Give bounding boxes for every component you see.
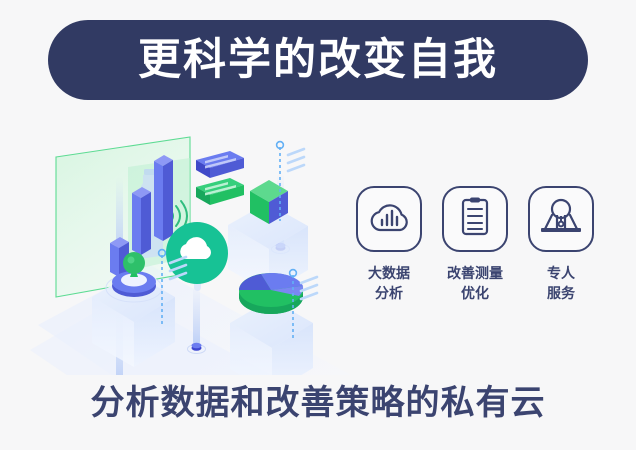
feature-list: 大数据 分析 <box>352 186 598 305</box>
clipboard-icon <box>458 196 492 243</box>
feature-label-line1: 大数据 <box>368 264 410 284</box>
cloud-bar-chart-icon <box>368 200 410 239</box>
feature-icon-frame <box>442 186 508 252</box>
feature-label-line1: 改善测量 <box>447 264 503 284</box>
data-card-blue <box>196 151 244 178</box>
page-title: 更科学的改变自我 <box>138 39 498 82</box>
feature-label-line2: 分析 <box>368 284 410 304</box>
feature-label-line2: 服务 <box>547 284 575 304</box>
feature-dedicated-service[interactable]: 专人 服务 <box>524 186 598 305</box>
illustration <box>30 125 360 375</box>
feature-label-line1: 专人 <box>547 264 575 284</box>
feature-big-data-analysis[interactable]: 大数据 分析 <box>352 186 426 305</box>
tagline: 分析数据和改善策略的私有云 <box>0 386 636 420</box>
feature-icon-frame <box>356 186 422 252</box>
feature-label: 改善测量 优化 <box>447 264 503 305</box>
feature-label-line2: 优化 <box>447 284 503 304</box>
data-card-green <box>196 178 244 205</box>
service-person-icon <box>539 198 583 241</box>
header-pill: 更科学的改变自我 <box>48 20 588 100</box>
feature-label: 专人 服务 <box>547 264 575 305</box>
feature-label: 大数据 分析 <box>368 264 410 305</box>
feature-icon-frame <box>528 186 594 252</box>
banner-canvas: 更科学的改变自我 <box>0 0 636 450</box>
feature-measurement-optimization[interactable]: 改善测量 优化 <box>438 186 512 305</box>
